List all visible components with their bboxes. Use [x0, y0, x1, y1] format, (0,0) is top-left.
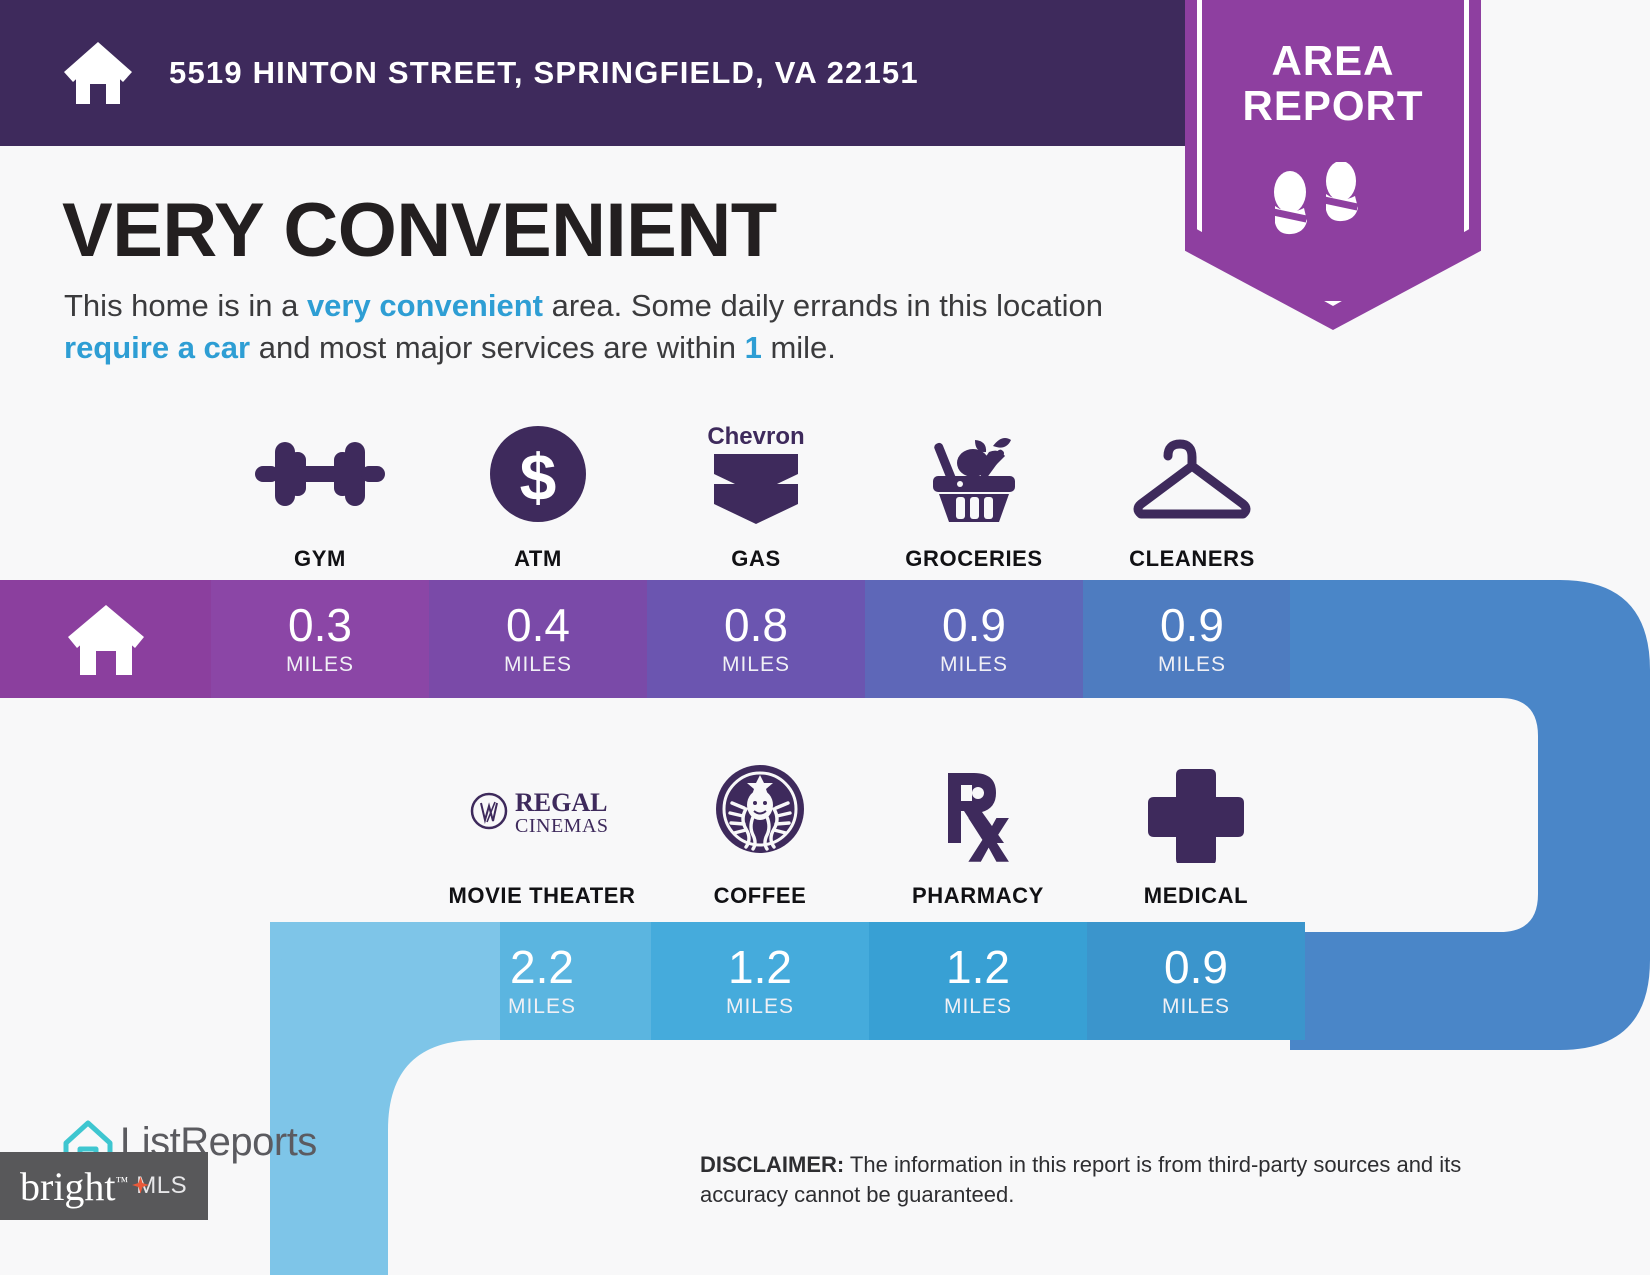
bright-mls-badge: bright™ MLS — [0, 1152, 208, 1220]
summary-part-4: mile. — [762, 330, 836, 365]
badge-title: AREA REPORT — [1185, 38, 1481, 129]
footprints-icon — [1262, 162, 1372, 254]
badge-line-2: REPORT — [1185, 83, 1481, 128]
page-title: VERY CONVENIENT — [62, 187, 777, 274]
summary-text: This home is in a very convenient area. … — [64, 285, 1124, 369]
amenity-icon-row-2: REGAL CINEMAS MOVIE THEATER — [433, 755, 1305, 909]
starbucks-logo — [708, 755, 812, 867]
summary-highlight-3: 1 — [745, 330, 762, 365]
distance-unit: MILES — [1162, 995, 1230, 1019]
amenity-groceries: GROCERIES — [865, 418, 1083, 572]
amenity-label: MEDICAL — [1144, 883, 1248, 909]
bar-home-cell — [0, 580, 211, 698]
path-elbow-left — [270, 922, 500, 1275]
regal-cinemas-logo: REGAL CINEMAS — [467, 755, 617, 867]
distance-unit: MILES — [940, 653, 1008, 677]
home-icon — [64, 601, 148, 677]
dollar-circle-icon: $ — [486, 418, 590, 530]
distance-value: 0.3 — [288, 602, 352, 648]
amenity-movie-theater: REGAL CINEMAS MOVIE THEATER — [433, 755, 651, 909]
bright-tm: ™ — [116, 1173, 129, 1188]
amenity-label: MOVIE THEATER — [448, 883, 635, 909]
rx-icon — [926, 755, 1030, 867]
summary-highlight-2: require a car — [64, 330, 250, 365]
distance-value: 1.2 — [728, 944, 792, 990]
amenity-cleaners: CLEANERS — [1083, 418, 1301, 572]
distance-value: 1.2 — [946, 944, 1010, 990]
clothes-hanger-icon — [1125, 418, 1259, 530]
disclaimer: DISCLAIMER: The information in this repo… — [700, 1150, 1530, 1211]
amenity-label: PHARMACY — [912, 883, 1044, 909]
distance-value: 0.4 — [506, 602, 570, 648]
badge-line-1: AREA — [1185, 38, 1481, 83]
distance-value: 0.9 — [1160, 602, 1224, 648]
bright-wordmark: bright™ — [20, 1163, 128, 1210]
distance-cell-gym: 0.3 MILES — [211, 580, 429, 698]
amenity-coffee: COFFEE — [651, 755, 869, 909]
distance-value: 0.8 — [724, 602, 788, 648]
distance-unit: MILES — [944, 995, 1012, 1019]
distance-cell-cleaners: 0.9 MILES — [1083, 580, 1301, 698]
property-address: 5519 HINTON STREET, SPRINGFIELD, VA 2215… — [169, 55, 919, 91]
distance-unit: MILES — [722, 653, 790, 677]
distance-unit: MILES — [726, 995, 794, 1019]
grocery-basket-icon — [915, 418, 1033, 530]
amenity-label: COFFEE — [714, 883, 807, 909]
home-icon — [62, 40, 134, 106]
amenity-label: GAS — [731, 546, 780, 572]
amenity-label: GROCERIES — [905, 546, 1042, 572]
amenity-pharmacy: PHARMACY — [869, 755, 1087, 909]
amenity-atm: $ ATM — [429, 418, 647, 572]
distance-cell-gas: 0.8 MILES — [647, 580, 865, 698]
distance-unit: MILES — [504, 653, 572, 677]
amenity-gym: GYM — [211, 418, 429, 572]
svg-text:Chevron: Chevron — [707, 423, 804, 450]
amenity-label: ATM — [514, 546, 562, 572]
distance-cell-medical: 0.9 MILES — [1087, 922, 1305, 1040]
amenity-label: CLEANERS — [1129, 546, 1255, 572]
distance-cell-coffee: 1.2 MILES — [651, 922, 869, 1040]
chevron-gas-logo: Chevron — [697, 418, 815, 530]
distance-value: 0.9 — [942, 602, 1006, 648]
svg-text:$: $ — [520, 440, 557, 514]
summary-part-2: area. Some daily errands in this locatio… — [543, 288, 1103, 323]
summary-highlight-1: very convenient — [307, 288, 543, 323]
svg-text:CINEMAS: CINEMAS — [515, 815, 609, 837]
amenity-gas: Chevron GAS — [647, 418, 865, 572]
distance-unit: MILES — [286, 653, 354, 677]
distance-cell-pharmacy: 1.2 MILES — [869, 922, 1087, 1040]
amenity-medical: MEDICAL — [1087, 755, 1305, 909]
distance-unit: MILES — [1158, 653, 1226, 677]
header-bar: 5519 HINTON STREET, SPRINGFIELD, VA 2215… — [0, 0, 1190, 146]
medical-cross-icon — [1144, 755, 1248, 867]
summary-part-1: This home is in a — [64, 288, 307, 323]
disclaimer-label: DISCLAIMER: — [700, 1152, 844, 1177]
summary-part-3: and most major services are within — [250, 330, 744, 365]
svg-text:REGAL: REGAL — [515, 788, 607, 817]
distance-value: 2.2 — [510, 944, 574, 990]
amenity-icon-row-1: GYM $ ATM Chevron GAS — [211, 418, 1301, 572]
distance-unit: MILES — [508, 995, 576, 1019]
distance-cell-atm: 0.4 MILES — [429, 580, 647, 698]
dumbbell-icon — [245, 418, 395, 530]
amenity-label: GYM — [294, 546, 346, 572]
distance-cell-groceries: 0.9 MILES — [865, 580, 1083, 698]
distance-value: 0.9 — [1164, 944, 1228, 990]
bright-text: bright — [20, 1164, 116, 1209]
